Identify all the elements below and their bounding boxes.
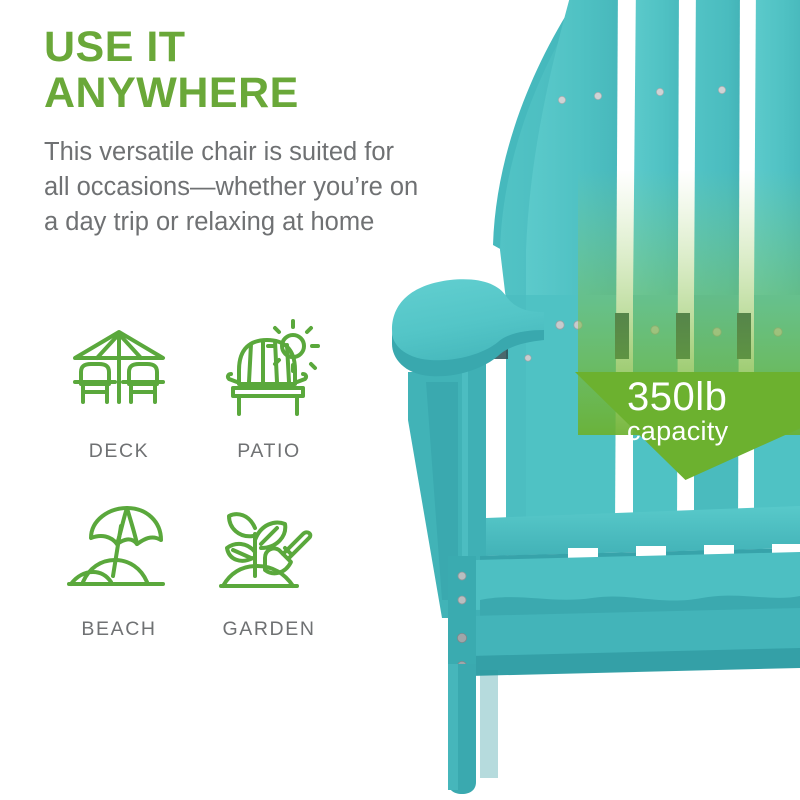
use-case-garden: GARDEN bbox=[194, 500, 344, 678]
chair-rear-leg bbox=[480, 670, 498, 778]
use-case-label: PATIO bbox=[237, 440, 301, 463]
description-text: This versatile chair is suited for all o… bbox=[44, 135, 504, 241]
use-case-label: DECK bbox=[89, 440, 150, 463]
chair-side-rail bbox=[448, 556, 476, 678]
beach-umbrella-on-dunes-icon bbox=[67, 500, 171, 604]
use-case-patio: PATIO bbox=[194, 322, 344, 500]
plant-with-trowel-icon bbox=[217, 500, 321, 604]
use-case-beach: BEACH bbox=[44, 500, 194, 678]
capacity-badge: 350lb capacity bbox=[575, 372, 800, 480]
use-case-label: GARDEN bbox=[222, 618, 315, 641]
chair-front-leg bbox=[448, 664, 476, 794]
use-case-deck: DECK bbox=[44, 322, 194, 500]
capacity-caption: capacity bbox=[627, 418, 797, 446]
capacity-weight: 350lb bbox=[627, 378, 797, 417]
capacity-badge-text: 350lb capacity bbox=[627, 378, 797, 446]
seat-assembly bbox=[470, 506, 800, 676]
use-case-grid: DECK bbox=[44, 322, 344, 678]
adirondack-chair-with-sun-icon bbox=[217, 322, 321, 426]
product-feature-graphic: 350lb capacity USE IT ANYWHERE This vers… bbox=[0, 0, 800, 800]
umbrella-with-two-chairs-icon bbox=[67, 322, 171, 426]
use-case-label: BEACH bbox=[81, 618, 156, 641]
page-title: USE IT ANYWHERE bbox=[44, 24, 474, 117]
